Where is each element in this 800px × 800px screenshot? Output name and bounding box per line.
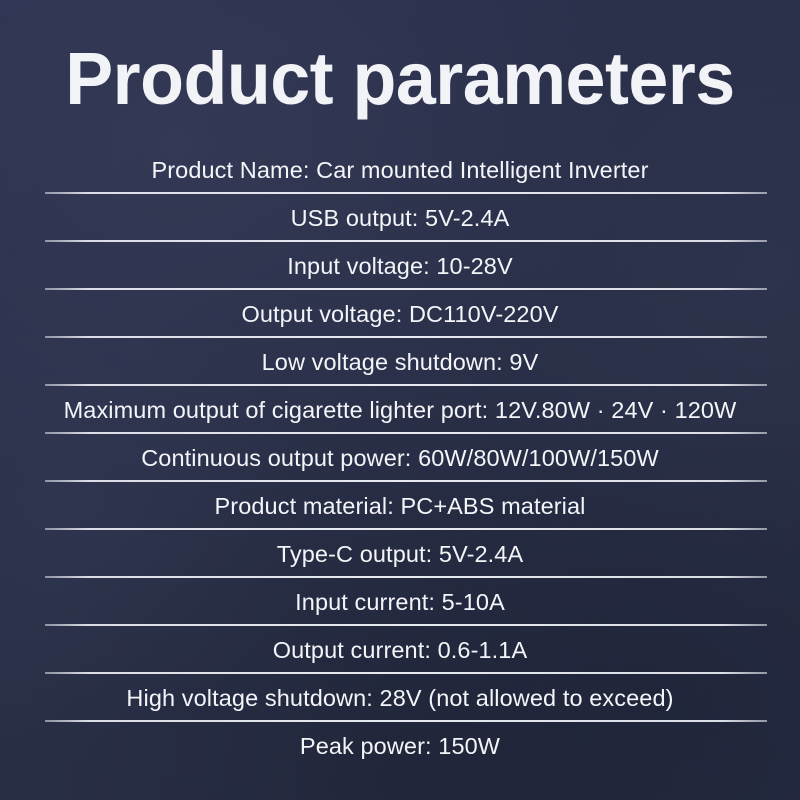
spec-row-text: High voltage shutdown: 28V (not allowed …: [126, 683, 673, 713]
spec-row-text: Type-C output: 5V-2.4A: [277, 539, 523, 569]
page-title: Product parameters: [12, 42, 788, 116]
spec-row-high-voltage-shutdown: High voltage shutdown: 28V (not allowed …: [0, 674, 800, 722]
spec-row-text: USB output: 5V-2.4A: [291, 203, 510, 233]
spec-row-text: Output voltage: DC110V-220V: [241, 299, 558, 329]
spec-row-text: Maximum output of cigarette lighter port…: [64, 395, 737, 425]
spec-row-text: Low voltage shutdown: 9V: [262, 347, 539, 377]
spec-row-input-voltage: Input voltage: 10-28V: [0, 242, 800, 290]
spec-row-text: Product material: PC+ABS material: [215, 491, 586, 521]
product-parameters-sheet: Product parameters Product Name: Car mou…: [0, 0, 800, 800]
spec-row-output-current: Output current: 0.6-1.1A: [0, 626, 800, 674]
spec-row-continuous-output-power: Continuous output power: 60W/80W/100W/15…: [0, 434, 800, 482]
spec-row-text: Peak power: 150W: [300, 731, 500, 761]
spec-row-output-voltage: Output voltage: DC110V-220V: [0, 290, 800, 338]
spec-row-text: Output current: 0.6-1.1A: [273, 635, 528, 665]
spec-table: Product Name: Car mounted Intelligent In…: [0, 146, 800, 770]
spec-row-text: Input voltage: 10-28V: [287, 251, 513, 281]
spec-row-peak-power: Peak power: 150W: [0, 722, 800, 770]
spec-row-text: Continuous output power: 60W/80W/100W/15…: [141, 443, 659, 473]
spec-row-input-current: Input current: 5-10A: [0, 578, 800, 626]
spec-row-text: Product Name: Car mounted Intelligent In…: [151, 155, 648, 185]
spec-row-usb-output: USB output: 5V-2.4A: [0, 194, 800, 242]
spec-row-low-voltage-shutdown: Low voltage shutdown: 9V: [0, 338, 800, 386]
spec-row-product-material: Product material: PC+ABS material: [0, 482, 800, 530]
spec-row-product-name: Product Name: Car mounted Intelligent In…: [0, 146, 800, 194]
spec-row-text: Input current: 5-10A: [295, 587, 505, 617]
spec-row-cigarette-lighter-max-output: Maximum output of cigarette lighter port…: [0, 386, 800, 434]
spec-row-type-c-output: Type-C output: 5V-2.4A: [0, 530, 800, 578]
